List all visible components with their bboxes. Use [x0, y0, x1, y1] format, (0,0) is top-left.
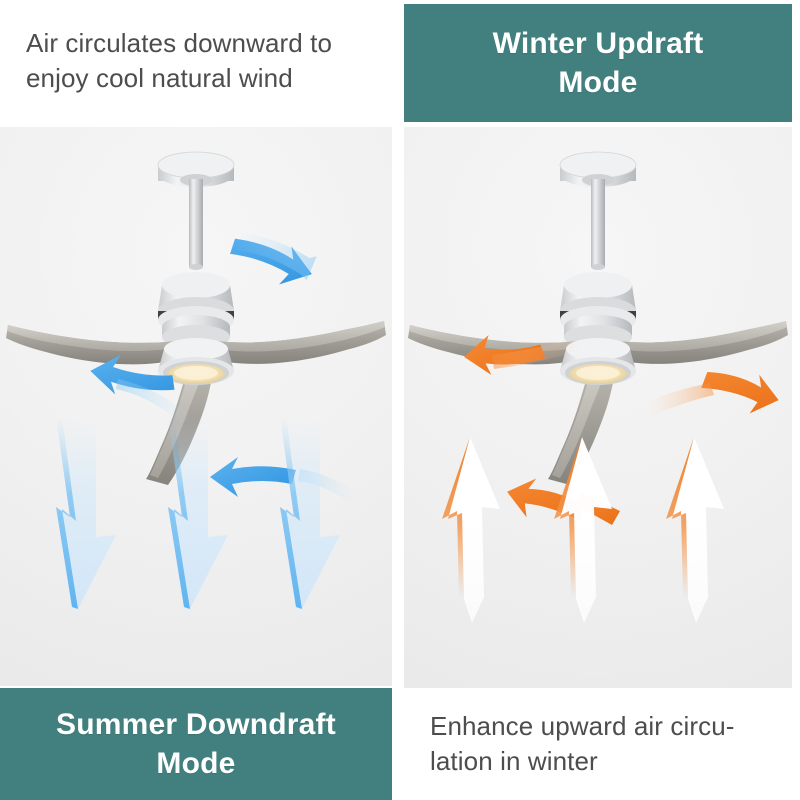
horizontal-gutter-right-top	[404, 122, 792, 127]
arrow-up-icon	[666, 437, 724, 623]
arrow-up-icon	[442, 437, 500, 623]
caption-air-circulates-downward-text: Air circulates downward to enjoy cool na…	[26, 26, 332, 95]
product-feature-collage: Air circulates downward to enjoy cool na…	[0, 0, 800, 800]
vertical-gutter	[392, 0, 404, 800]
winter-updraft-illustration	[404, 127, 792, 688]
arrow-down-icon	[56, 417, 116, 609]
caption-winter-updraft-mode: Winter Updraft Mode	[404, 4, 792, 122]
horizontal-gutter-left-top	[0, 122, 392, 127]
right-margin	[792, 0, 800, 800]
arrow-down-icon	[280, 417, 340, 609]
caption-winter-updraft-mode-text: Winter Updraft Mode	[493, 24, 704, 102]
caption-enhance-upward-air-circulation: Enhance upward air circu- lation in wint…	[404, 688, 792, 800]
summer-downdraft-illustration	[0, 127, 392, 686]
arrow-down-icon	[168, 417, 228, 609]
upward-airflow-arrows	[404, 427, 792, 672]
horizontal-gutter-left-bottom	[0, 686, 392, 688]
caption-summer-downdraft-mode: Summer Downdraft Mode	[0, 688, 392, 800]
caption-air-circulates-downward: Air circulates downward to enjoy cool na…	[0, 0, 392, 122]
caption-enhance-upward-air-circulation-text: Enhance upward air circu- lation in wint…	[430, 709, 735, 778]
caption-summer-downdraft-mode-text: Summer Downdraft Mode	[56, 705, 336, 783]
downward-airflow-arrows	[0, 417, 392, 662]
arrow-up-icon	[554, 437, 612, 623]
